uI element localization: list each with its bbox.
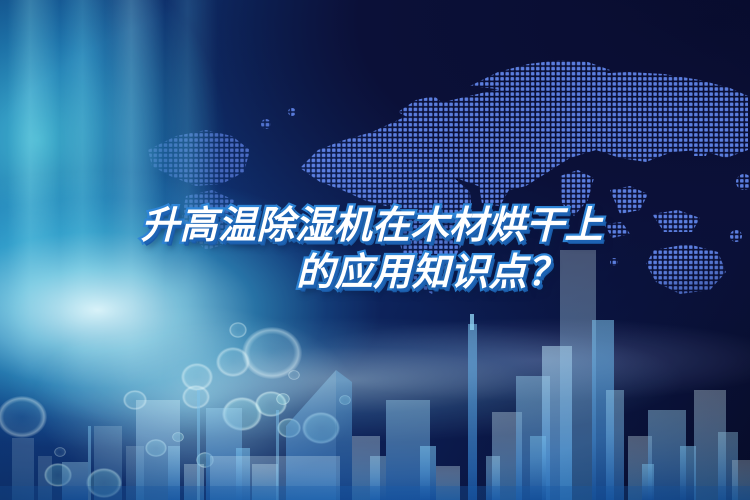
promo-banner: 升高温除湿机在木材烘干上 的应用知识点？ xyxy=(0,0,750,500)
vignette-overlay xyxy=(0,0,750,500)
